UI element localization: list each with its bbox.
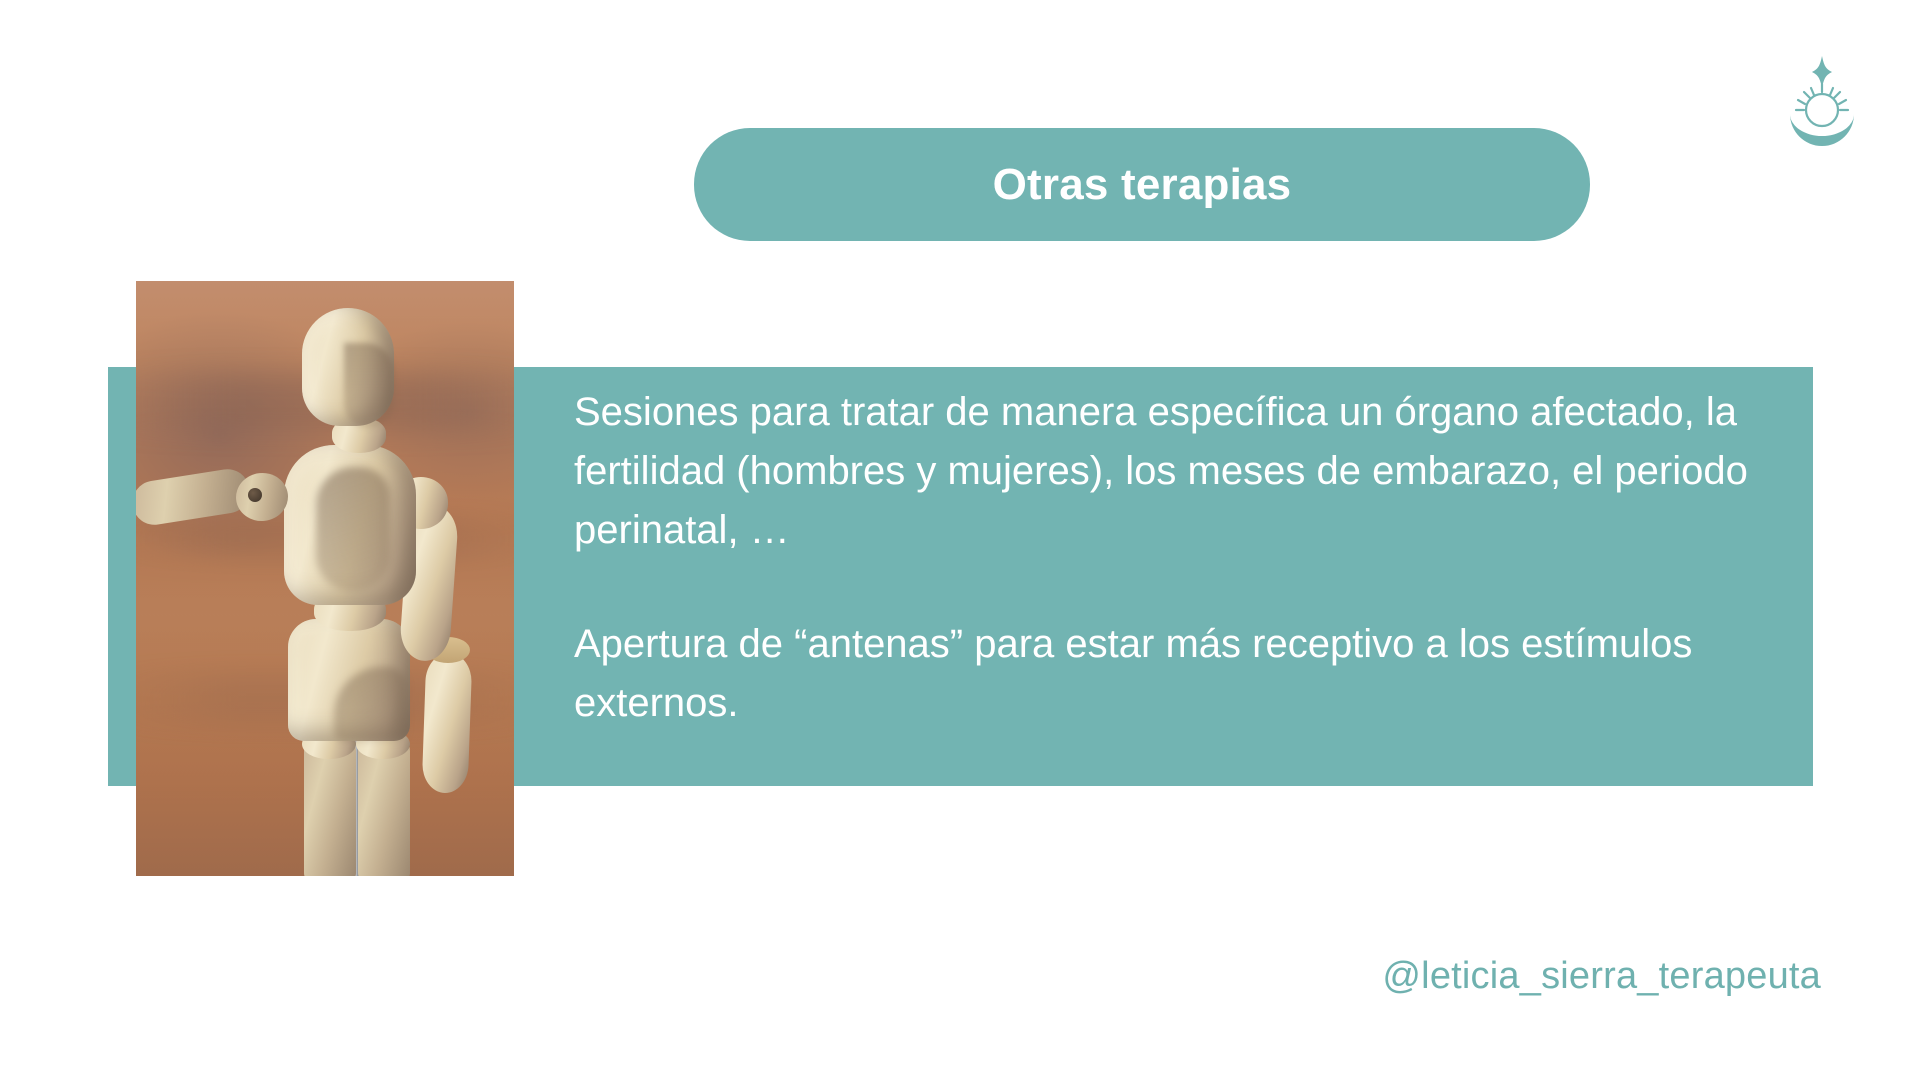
social-handle: @leticia_sierra_terapeuta: [0, 955, 1821, 998]
mannequin-head-shading: [344, 343, 394, 428]
sun-moon-star-icon: [1768, 48, 1876, 158]
slide-canvas: Otras terapias: [0, 0, 1920, 1080]
mannequin-torso-shading: [316, 467, 390, 591]
body-copy: Sesiones para tratar de manera específic…: [574, 383, 1804, 733]
title-pill: Otras terapias: [694, 128, 1590, 241]
sun-circle-icon: [1806, 94, 1838, 126]
brand-logo: [1768, 48, 1876, 158]
paragraph-spacer: [574, 559, 1804, 615]
mannequin-forearm-right: [422, 652, 473, 794]
body-paragraph-1: Sesiones para tratar de manera específic…: [574, 383, 1804, 559]
mannequin-screw: [248, 488, 262, 502]
wooden-mannequin-photo: [136, 281, 514, 876]
body-paragraph-2: Apertura de “antenas” para estar más rec…: [574, 615, 1804, 733]
sun-rays-icon: [1796, 84, 1848, 110]
mannequin-figure: [136, 281, 514, 876]
crescent-bowl-icon: [1790, 114, 1854, 146]
page-title: Otras terapias: [993, 163, 1292, 207]
